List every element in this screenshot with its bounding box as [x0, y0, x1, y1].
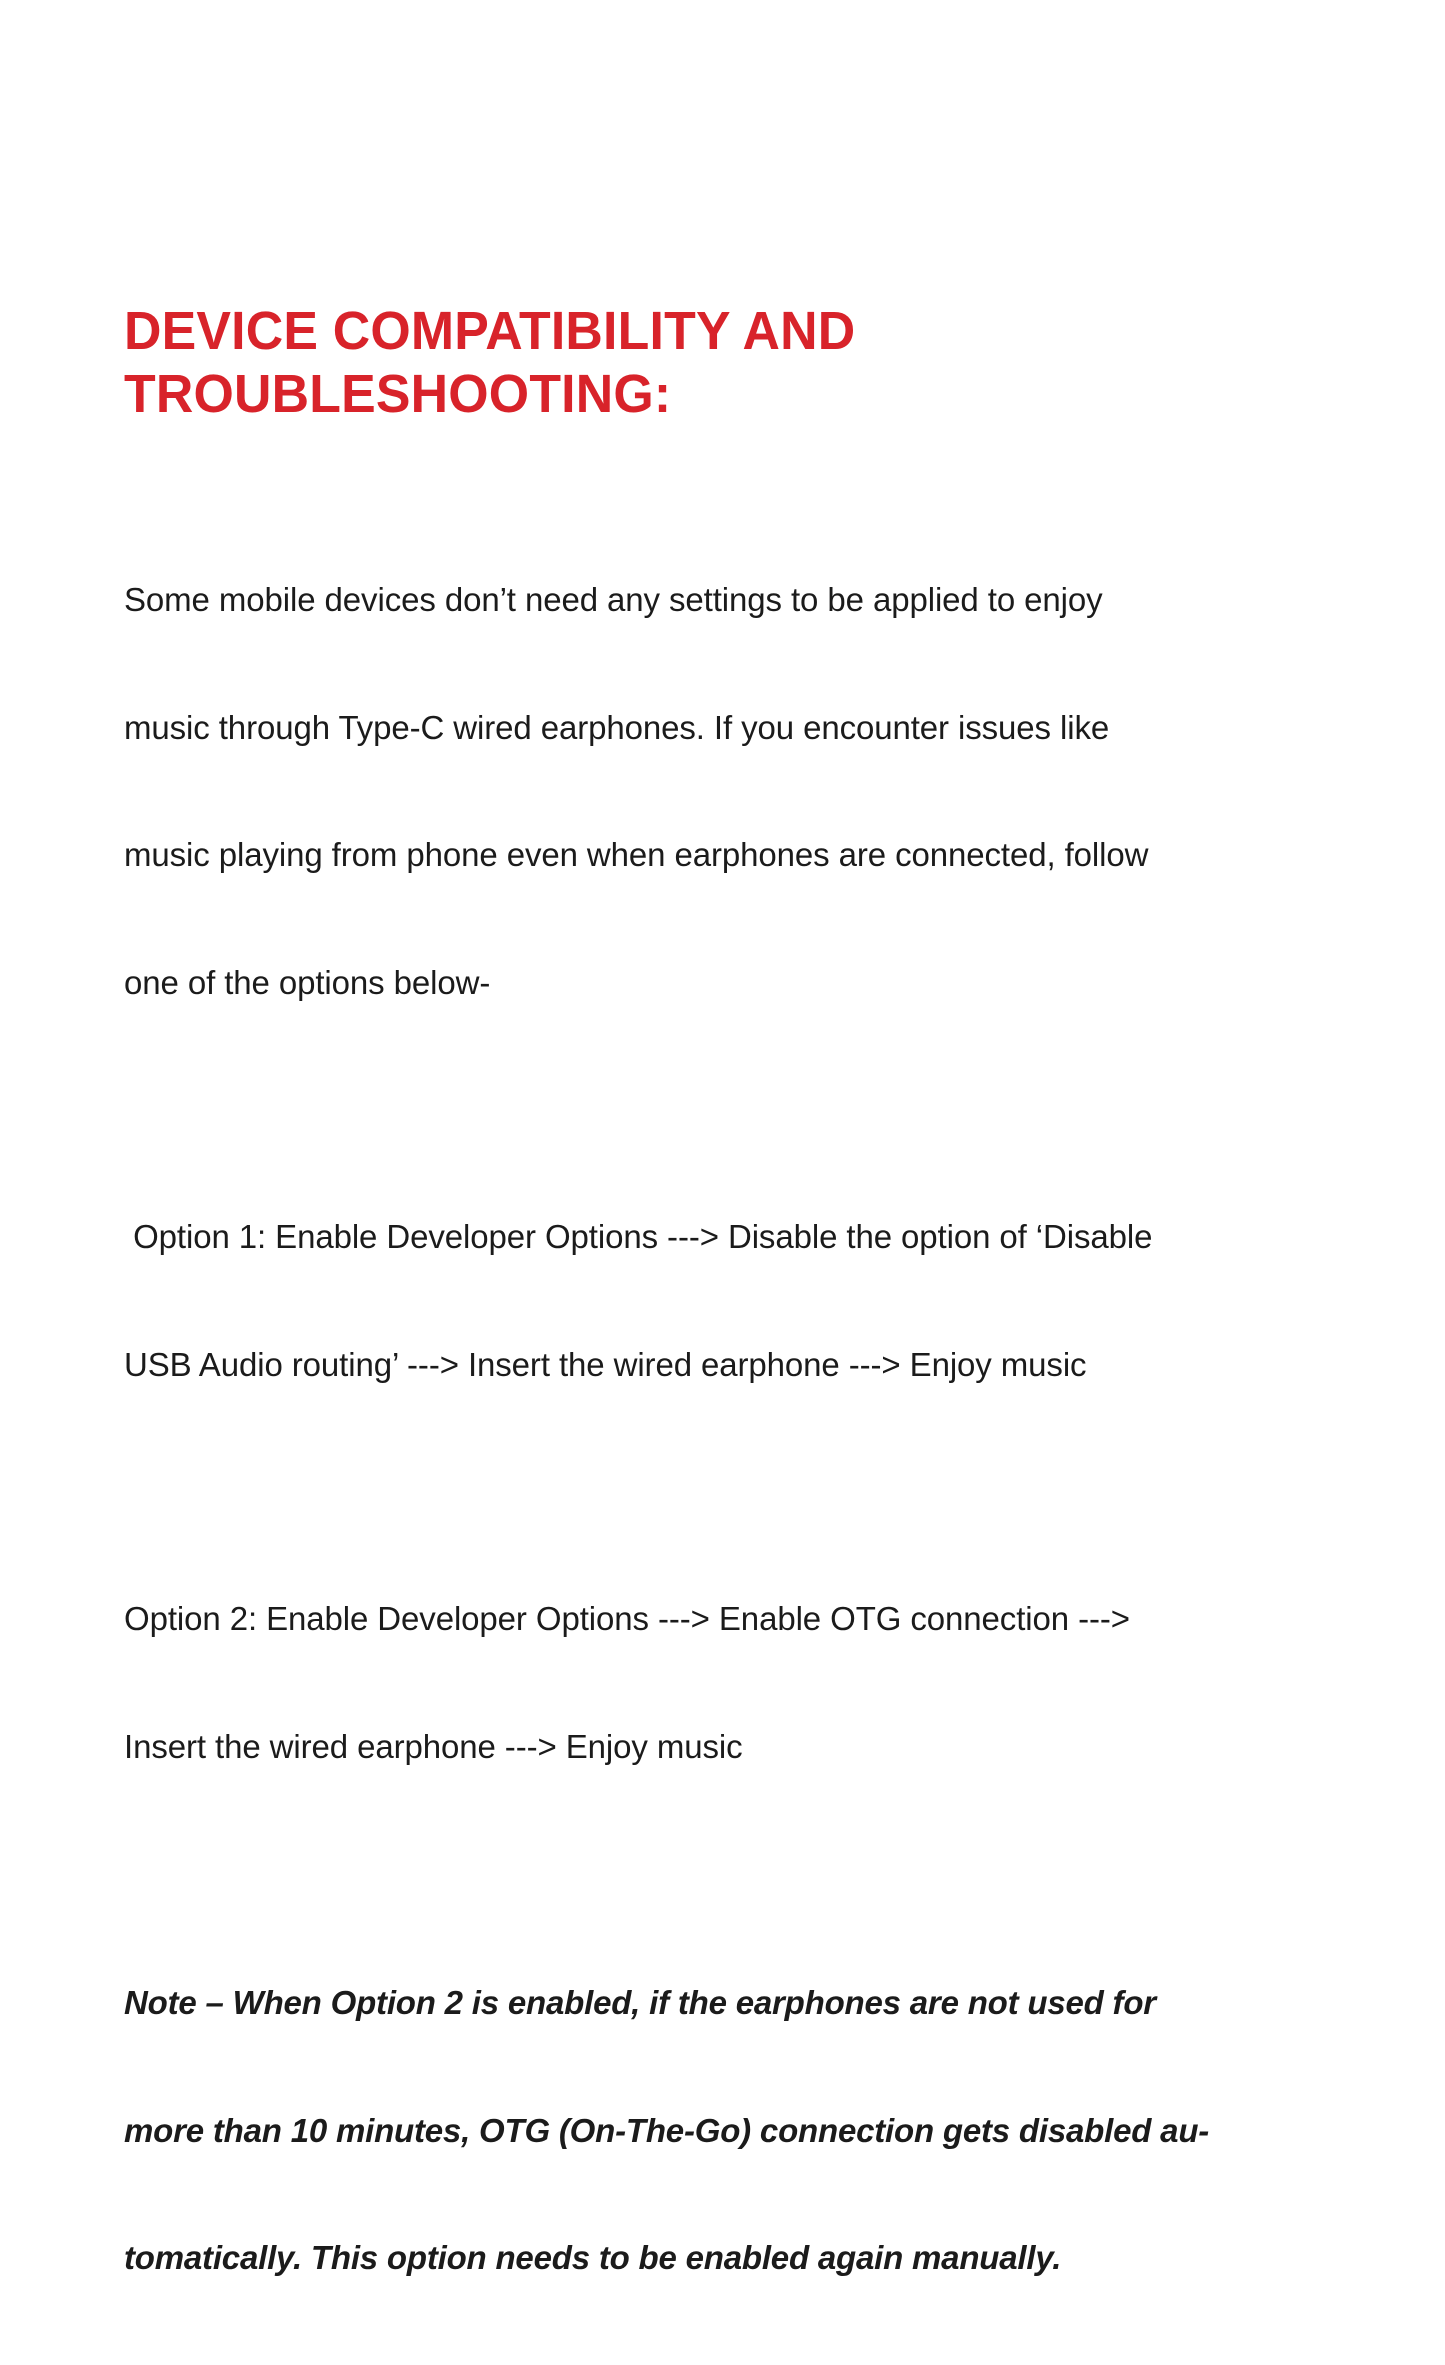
intro-line-4: one of the options below- [124, 962, 1304, 1005]
note-line-2: more than 10 minutes, OTG (On-The-Go) co… [124, 2110, 1304, 2153]
page-title-line-2: TROUBLESHOOTING: [124, 363, 969, 426]
intro-paragraph: Some mobile devices don’t need any setti… [124, 494, 1304, 1089]
option-2-paragraph: Option 2: Enable Developer Options ---> … [124, 1513, 1304, 1853]
option-1-paragraph: Option 1: Enable Developer Options ---> … [124, 1131, 1304, 1471]
intro-line-3: music playing from phone even when earph… [124, 834, 1304, 877]
page-title-line-1: DEVICE COMPATIBILITY AND [124, 300, 969, 363]
content-container: DEVICE COMPATIBILITY AND TROUBLESHOOTING… [124, 300, 1304, 2365]
body-block: Some mobile devices don’t need any setti… [124, 494, 1304, 2365]
intro-line-2: music through Type-C wired earphones. If… [124, 707, 1304, 750]
intro-line-1: Some mobile devices don’t need any setti… [124, 579, 1304, 622]
option-1-line-1: Option 1: Enable Developer Options ---> … [124, 1216, 1304, 1259]
product-info-page: DEVICE COMPATIBILITY AND TROUBLESHOOTING… [0, 0, 1445, 1445]
note-paragraph: Note – When Option 2 is enabled, if the … [124, 1897, 1304, 2365]
note-line-1: Note – When Option 2 is enabled, if the … [124, 1982, 1304, 2025]
note-line-3: tomatically. This option needs to be ena… [124, 2237, 1304, 2280]
option-1-line-2: USB Audio routing’ ---> Insert the wired… [124, 1344, 1304, 1387]
page-title: DEVICE COMPATIBILITY AND TROUBLESHOOTING… [124, 300, 969, 426]
option-2-line-1: Option 2: Enable Developer Options ---> … [124, 1598, 1304, 1641]
option-2-line-2: Insert the wired earphone ---> Enjoy mus… [124, 1726, 1304, 1769]
